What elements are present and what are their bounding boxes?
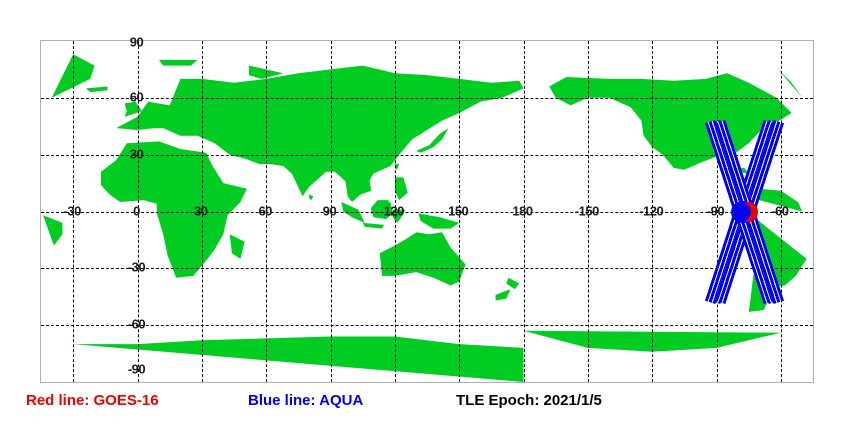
lat-tick-label-60: 60 <box>130 89 143 104</box>
lon-tick-label--150: -150 <box>575 203 599 218</box>
lat-tick-label-90: 90 <box>130 35 143 50</box>
landmass-nz-s <box>496 289 511 300</box>
lon-tick-label-30: 30 <box>194 203 207 218</box>
lon-tick-label--60: -60 <box>771 203 788 218</box>
landmass-south-america <box>43 215 62 245</box>
lat-tick-label--30: -30 <box>128 260 145 275</box>
landmass-nz-n <box>506 278 519 289</box>
map-canvas <box>41 41 813 382</box>
landmass-greenland <box>52 54 95 98</box>
landmass-indonesia-sumatra <box>341 202 365 223</box>
lat-tick-label--60: -60 <box>128 317 145 332</box>
legend-aqua: Blue line: AQUA <box>248 392 363 409</box>
lon-tick-label-150: 150 <box>448 203 468 218</box>
goes16-crescent-mask <box>731 202 751 222</box>
lon-tick-label--30: -30 <box>64 203 81 218</box>
lat-tick-label--90: -90 <box>128 362 145 377</box>
land-layer <box>41 41 813 382</box>
landmass-svalbard <box>159 60 198 66</box>
lon-tick-label-120: 120 <box>384 203 404 218</box>
legend-tle-epoch: TLE Epoch: 2021/1/5 <box>456 392 602 409</box>
legend-footer: Red line: GOES-16 Blue line: AQUA TLE Ep… <box>0 392 850 418</box>
landmass-iceland <box>86 87 108 93</box>
lon-tick-label-90: 90 <box>323 203 336 218</box>
map-frame <box>40 40 814 383</box>
legend-goes16: Red line: GOES-16 <box>26 392 159 409</box>
landmass-africa <box>101 141 247 277</box>
landmass-indonesia-java <box>363 223 384 229</box>
lat-tick-label-0: 0 <box>133 203 140 218</box>
landmass-madagascar <box>230 234 245 259</box>
landmass-philippines <box>395 177 408 200</box>
landmass-taiwan <box>395 164 399 170</box>
lon-tick-label--120: -120 <box>639 203 663 218</box>
lon-tick-label-60: 60 <box>258 203 271 218</box>
lon-tick-label-180: 180 <box>512 203 532 218</box>
goes16-position-marker <box>738 202 758 222</box>
landmass-antarctica <box>524 331 781 352</box>
lat-tick-label-30: 30 <box>130 146 143 161</box>
landmass-sri-lanka <box>309 195 313 201</box>
landmass-australia <box>380 232 466 285</box>
landmass-greenland <box>777 68 803 98</box>
lon-tick-label--90: -90 <box>707 203 724 218</box>
world-map-figure: Red line: GOES-16 Blue line: AQUA TLE Ep… <box>0 0 850 425</box>
